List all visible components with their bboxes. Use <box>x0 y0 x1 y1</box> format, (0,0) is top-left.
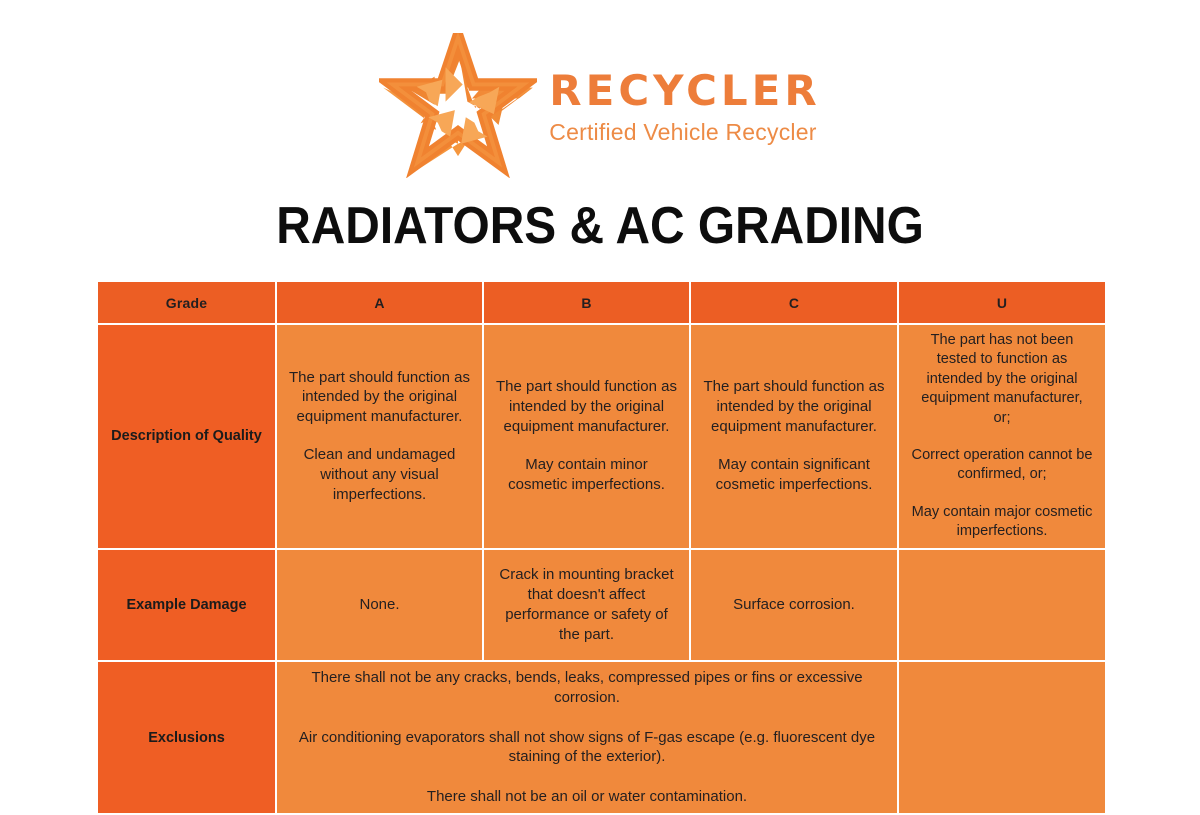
brand-logo-block: RECYCLER Certified Vehicle Recycler <box>0 30 1200 180</box>
column-header-grade: Grade <box>98 282 275 323</box>
table-header-row: Grade A B C U <box>98 282 1105 323</box>
cell-paragraph: There shall not be any cracks, bends, le… <box>289 668 885 708</box>
brand-tagline: Certified Vehicle Recycler <box>549 121 820 144</box>
cell-damage-b: Crack in mounting bracket that doesn't a… <box>484 550 689 660</box>
cell-paragraph: Surface corrosion. <box>703 595 885 615</box>
brand-wordmark: RECYCLER <box>549 70 820 112</box>
cell-exclusions-merged: There shall not be any cracks, bends, le… <box>277 662 897 814</box>
cell-damage-a: None. <box>277 550 482 660</box>
cell-exclusions-u <box>899 662 1105 814</box>
cell-description-u: The part has not been tested to function… <box>899 325 1105 548</box>
cell-damage-u <box>899 550 1105 660</box>
table-row: Exclusions There shall not be any cracks… <box>98 662 1105 814</box>
cell-description-a: The part should function as intended by … <box>277 325 482 548</box>
column-header-c: C <box>691 282 897 323</box>
cell-paragraph: The part should function as intended by … <box>289 368 470 428</box>
grading-table: Grade A B C U Description of Quality The… <box>96 280 1107 815</box>
column-header-u: U <box>899 282 1105 323</box>
cell-description-c: The part should function as intended by … <box>691 325 897 548</box>
brand-text: RECYCLER Certified Vehicle Recycler <box>549 66 820 144</box>
cell-paragraph: May contain significant cosmetic imperfe… <box>703 455 885 495</box>
column-header-b: B <box>484 282 689 323</box>
cell-paragraph: May contain major cosmetic imperfections… <box>911 503 1093 542</box>
cell-paragraph: There shall not be an oil or water conta… <box>289 787 885 807</box>
cell-paragraph: The part has not been tested to function… <box>911 331 1093 428</box>
cell-damage-c: Surface corrosion. <box>691 550 897 660</box>
table-row: Example Damage None. Crack in mounting b… <box>98 550 1105 660</box>
cell-description-b: The part should function as intended by … <box>484 325 689 548</box>
cell-paragraph: The part should function as intended by … <box>703 377 885 437</box>
cell-paragraph: Clean and undamaged without any visual i… <box>289 445 470 505</box>
cell-paragraph: Crack in mounting bracket that doesn't a… <box>496 565 677 645</box>
page-title: RADIATORS & AC GRADING <box>48 196 1152 256</box>
row-header-exclusions: Exclusions <box>98 662 275 814</box>
cell-paragraph: The part should function as intended by … <box>496 377 677 437</box>
cell-paragraph: Correct operation cannot be confirmed, o… <box>911 446 1093 485</box>
cell-paragraph: May contain minor cosmetic imperfections… <box>496 455 677 495</box>
table-row: Description of Quality The part should f… <box>98 325 1105 548</box>
column-header-a: A <box>277 282 482 323</box>
row-header-description-of-quality: Description of Quality <box>98 325 275 548</box>
cell-paragraph: Air conditioning evaporators shall not s… <box>289 728 885 768</box>
recycle-star-icon <box>379 33 537 178</box>
cell-paragraph: None. <box>289 595 470 615</box>
row-header-example-damage: Example Damage <box>98 550 275 660</box>
